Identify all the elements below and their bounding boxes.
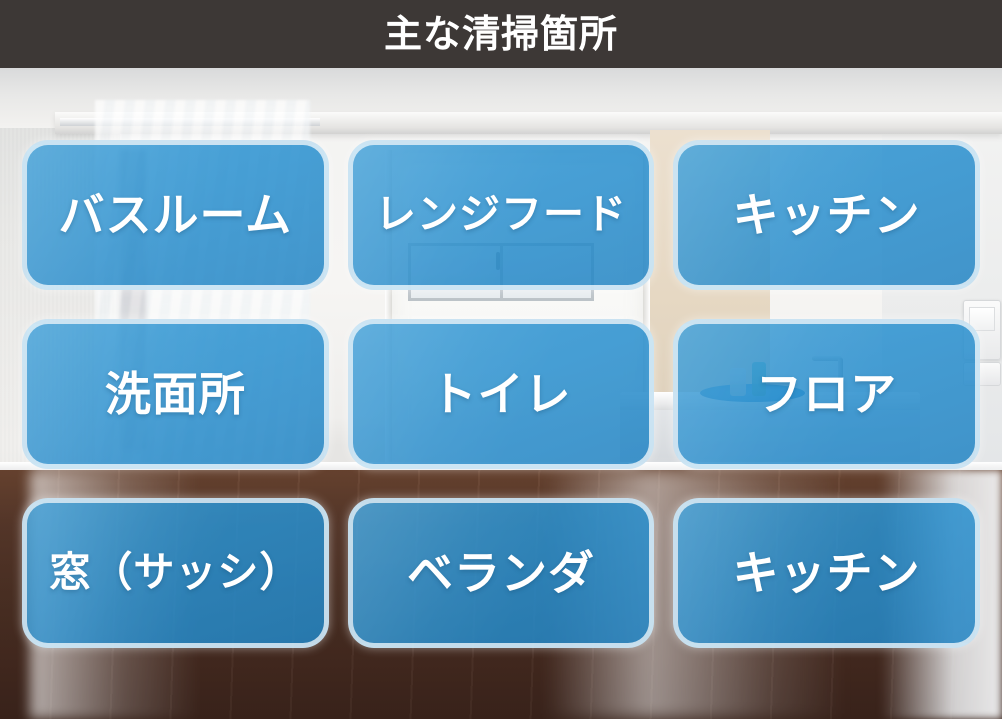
tile-range-hood[interactable]: レンジフード xyxy=(348,140,655,290)
tile-bathroom[interactable]: バスルーム xyxy=(22,140,329,290)
tile-floor[interactable]: フロア xyxy=(673,319,980,469)
tile-label: 洗面所 xyxy=(105,369,246,420)
tile-kitchen-top[interactable]: キッチン xyxy=(673,140,980,290)
tile-window-sash[interactable]: 窓（サッシ） xyxy=(22,498,329,648)
tile-label: キッチン xyxy=(733,190,921,241)
tile-label: 窓（サッシ） xyxy=(49,550,301,595)
tile-label: バスルーム xyxy=(59,190,293,241)
tile-kitchen-bottom[interactable]: キッチン xyxy=(673,498,980,648)
tile-toilet[interactable]: トイレ xyxy=(348,319,655,469)
cleaning-area-grid: バスルーム レンジフード キッチン 洗面所 トイレ フロア 窓（サッシ） ベラン… xyxy=(22,140,980,648)
tile-label: キッチン xyxy=(733,548,921,599)
tile-label: レンジフード xyxy=(375,192,627,237)
tile-label: ベランダ xyxy=(407,548,595,599)
tile-veranda[interactable]: ベランダ xyxy=(348,498,655,648)
page-title: 主な清掃箇所 xyxy=(384,15,618,53)
tile-washroom[interactable]: 洗面所 xyxy=(22,319,329,469)
screen-root: 主な清掃箇所 バスルーム レンジフード キッチン 洗面所 トイレ フロア 窓（サ… xyxy=(0,0,1002,719)
tile-label: トイレ xyxy=(430,369,571,420)
page-header: 主な清掃箇所 xyxy=(0,0,1002,68)
tile-label: フロア xyxy=(756,369,897,420)
